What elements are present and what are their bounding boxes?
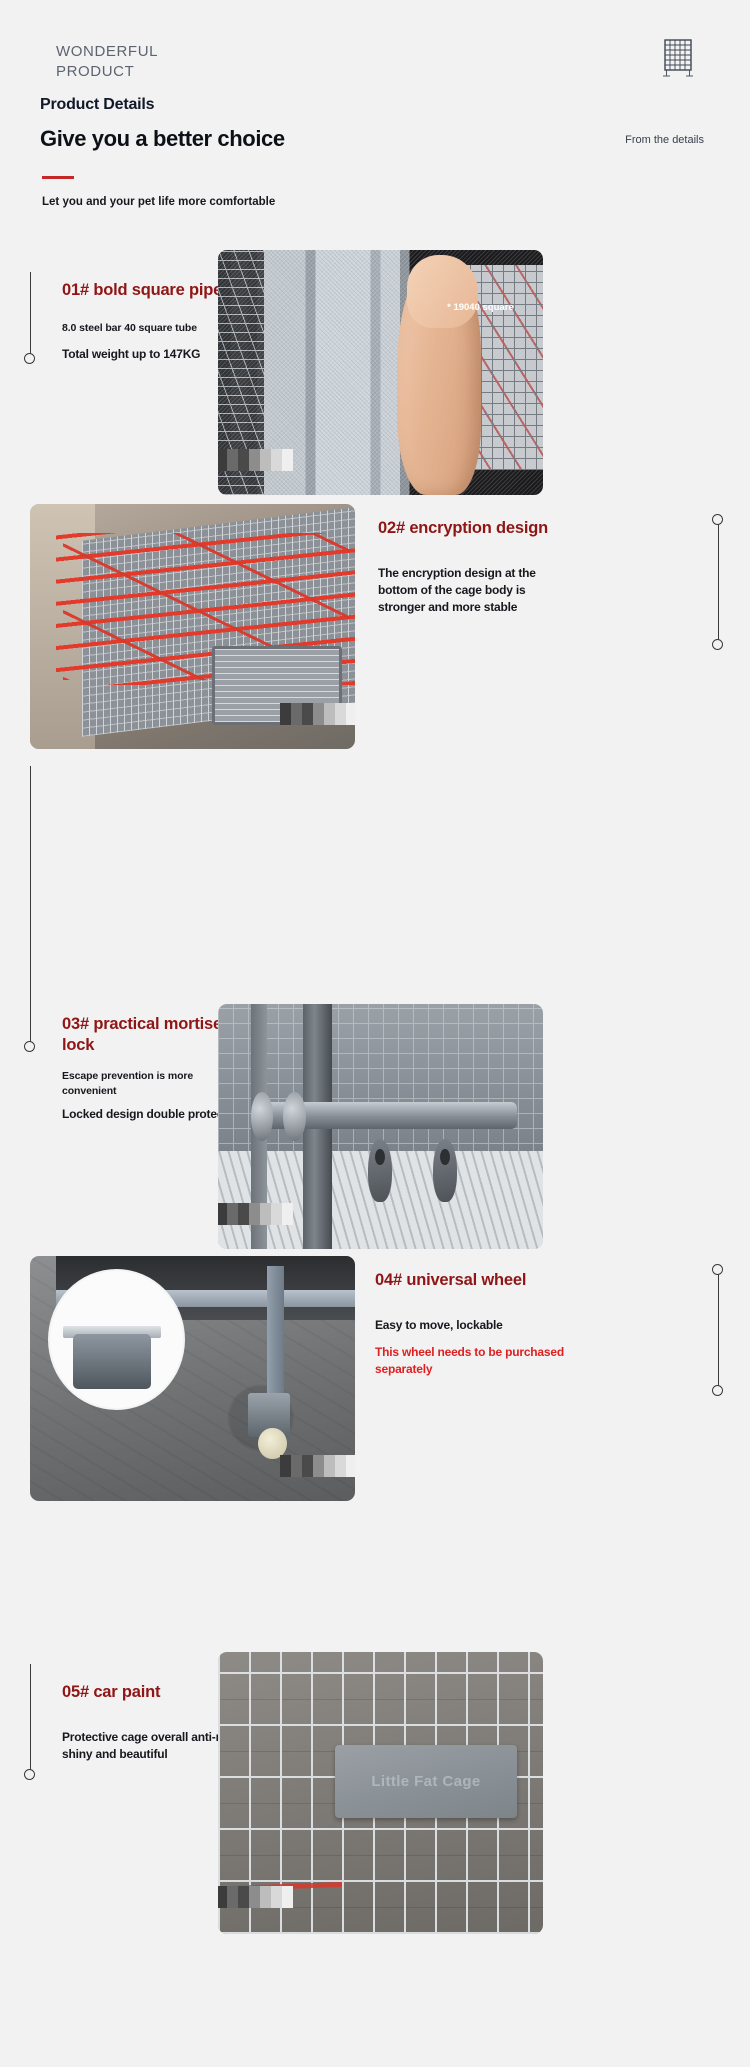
feature-photo-05: Little Fat Cage [218, 1652, 543, 1934]
feature-heading-02: 02# encryption design [378, 518, 573, 539]
page-header: WONDERFUL PRODUCT Product Details Give y… [0, 0, 750, 240]
watermark-mosaic-02 [280, 703, 355, 725]
connector-line [718, 520, 719, 644]
photo-brand-plate: Little Fat Cage [335, 1745, 517, 1818]
connector-dot-top [712, 514, 723, 525]
brand-wordmark: WONDERFUL PRODUCT [56, 42, 158, 83]
header-note: From the details [584, 133, 704, 148]
connector-line [30, 1664, 31, 1774]
photo-brand-plate-text: Little Fat Cage [371, 1773, 480, 1790]
feature-body-01b: Total weight up to 147KG [62, 346, 242, 363]
connector-rail-03 [24, 766, 38, 1046]
watermark-mosaic-01 [218, 449, 293, 471]
feature-section-02: 02# encryption design The encryption des… [0, 504, 750, 752]
watermark-mosaic-05 [218, 1886, 293, 1908]
page-title: Give you a better choice [40, 126, 285, 152]
watermark-mosaic-04 [280, 1455, 355, 1477]
connector-dot-bottom [712, 639, 723, 650]
photo-fist [407, 255, 479, 329]
cage-grid-icon [661, 38, 695, 78]
feature-text-05: 05# car paint Protective cage overall an… [62, 1682, 242, 1763]
connector-rail-01 [24, 272, 38, 358]
watermark-mosaic-03 [218, 1203, 293, 1225]
feature-body-05a: Protective cage overall anti-rust shiny … [62, 1729, 242, 1763]
feature-section-04: 04# universal wheel Easy to move, lockab… [0, 1008, 750, 1256]
feature-text-01: 01# bold square pipe 8.0 steel bar 40 sq… [62, 280, 242, 363]
brand-line-1: WONDERFUL [56, 42, 158, 62]
connector-dot-bottom [24, 1769, 35, 1780]
connector-rail-02 [712, 520, 726, 644]
page-subtitle: Product Details [40, 96, 154, 114]
feature-section-05: 05# car paint Protective cage overall an… [0, 1262, 750, 1562]
connector-dot-bottom [24, 353, 35, 364]
connector-rail-05 [24, 1664, 38, 1774]
feature-section-03: 03# practical mortise lock Escape preven… [0, 756, 750, 1004]
page-tagline: Let you and your pet life more comfortab… [42, 194, 342, 211]
connector-line [30, 766, 31, 1046]
feature-body-02a: The encryption design at the bottom of t… [378, 565, 573, 616]
feature-section-01: 01# bold square pipe 8.0 steel bar 40 sq… [0, 250, 750, 500]
feature-photo-02 [30, 504, 355, 749]
photo-spec-label-01: * 19040 square [447, 301, 514, 314]
accent-divider [42, 176, 74, 179]
connector-line [30, 272, 31, 358]
feature-photo-01: * 19040 square [218, 250, 543, 495]
feature-heading-01: 01# bold square pipe [62, 280, 242, 301]
brand-line-2: PRODUCT [56, 62, 158, 82]
feature-text-02: 02# encryption design The encryption des… [378, 518, 573, 616]
feature-heading-05: 05# car paint [62, 1682, 242, 1703]
feature-body-01a: 8.0 steel bar 40 square tube [62, 321, 242, 336]
